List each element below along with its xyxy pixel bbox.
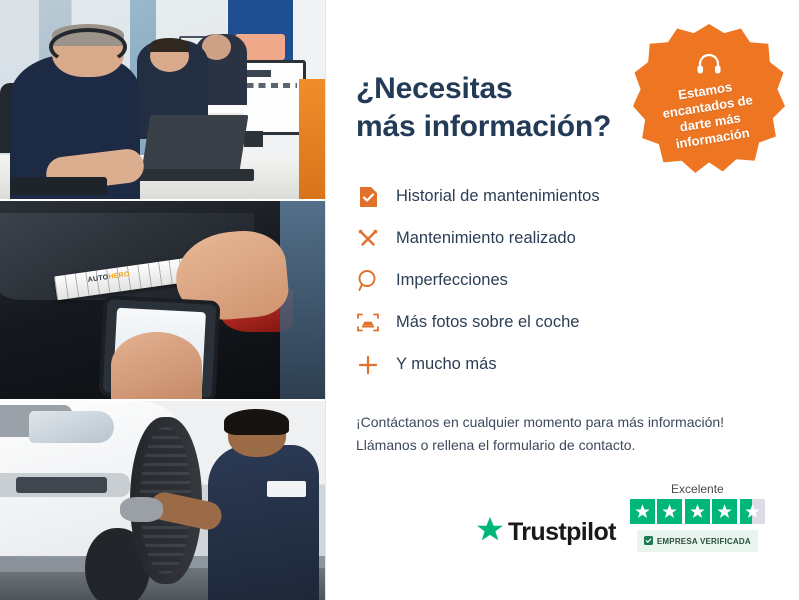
- car-air-intake: [16, 477, 107, 493]
- verified-check-icon: [644, 532, 653, 550]
- keyboard: [10, 177, 108, 195]
- info-banner: AUTOHERO: [0, 0, 799, 600]
- star-3: [685, 499, 710, 524]
- magnifier-icon: [356, 269, 380, 293]
- mechanic-hair: [224, 409, 289, 435]
- contact-line-one: ¡Contáctanos en cualquier momento para m…: [356, 411, 765, 434]
- feature-label: Más fotos sobre el coche: [396, 313, 579, 332]
- page-title: ¿Necesitas más información?: [356, 70, 656, 147]
- uniform-logo-patch: [267, 481, 306, 497]
- feature-label: Y mucho más: [396, 355, 497, 374]
- trustpilot-name: Trustpilot: [508, 518, 616, 547]
- photo-inspection: AUTOHERO: [0, 201, 325, 400]
- verified-badge: EMPRESA VERIFICADA: [637, 530, 758, 552]
- document-check-icon: [356, 185, 380, 209]
- star-2: [657, 499, 682, 524]
- car-headlight: [29, 411, 114, 443]
- content-panel: ¿Necesitas más información? Estamos enca…: [325, 0, 799, 600]
- laptop-screen: [142, 115, 248, 171]
- headline-line-one: ¿Necesitas: [356, 72, 512, 105]
- headline-line-two: más información?: [356, 110, 611, 143]
- star-rating: [630, 499, 765, 524]
- feature-label: Mantenimiento realizado: [396, 229, 576, 248]
- feature-item-imperfecciones: Imperfecciones: [356, 269, 765, 293]
- star-5-partial: [740, 499, 765, 524]
- photo-wheel-check: [0, 401, 325, 600]
- mechanic-body: [208, 445, 319, 600]
- trustpilot-star-icon: [476, 516, 504, 548]
- photo-column: AUTOHERO: [0, 0, 325, 600]
- star-4: [712, 499, 737, 524]
- feature-item-mantenimiento: Mantenimiento realizado: [356, 227, 765, 251]
- plus-icon: [356, 353, 380, 377]
- tools-cross-icon: [356, 227, 380, 251]
- status-badge: Estamos encantados de darte más informac…: [633, 24, 785, 176]
- verified-label: EMPRESA VERIFICADA: [657, 537, 751, 546]
- feature-item-mas: Y mucho más: [356, 353, 765, 377]
- headset-icon: [696, 52, 722, 81]
- trustpilot-logo: Trustpilot: [476, 516, 616, 552]
- star-1: [630, 499, 655, 524]
- contact-text: ¡Contáctanos en cualquier momento para m…: [356, 411, 765, 457]
- agent-two-hair: [150, 38, 189, 52]
- feature-label: Historial de mantenimientos: [396, 187, 600, 206]
- feature-item-fotos: Más fotos sobre el coche: [356, 311, 765, 335]
- contact-line-two: Llámanos o rellena el formulario de cont…: [356, 434, 765, 457]
- headset-worn-icon: [49, 28, 127, 66]
- feature-label: Imperfecciones: [396, 271, 508, 290]
- monitor-stand: [244, 131, 264, 147]
- orange-equipment: [299, 79, 325, 198]
- car-focus-icon: [356, 311, 380, 335]
- inspector-hand-lower: [111, 332, 202, 400]
- trustpilot-widget[interactable]: Trustpilot Excelente: [476, 482, 765, 552]
- photo-call-center: [0, 0, 325, 199]
- background-blue: [280, 201, 326, 400]
- rating-label: Excelente: [671, 482, 724, 496]
- mechanic-glove: [120, 497, 162, 523]
- trustpilot-rating: Excelente: [630, 482, 765, 552]
- feature-list: Historial de mantenimientos Mantenimient…: [356, 185, 765, 377]
- feature-item-historial: Historial de mantenimientos: [356, 185, 765, 209]
- laptop-base: [130, 169, 254, 181]
